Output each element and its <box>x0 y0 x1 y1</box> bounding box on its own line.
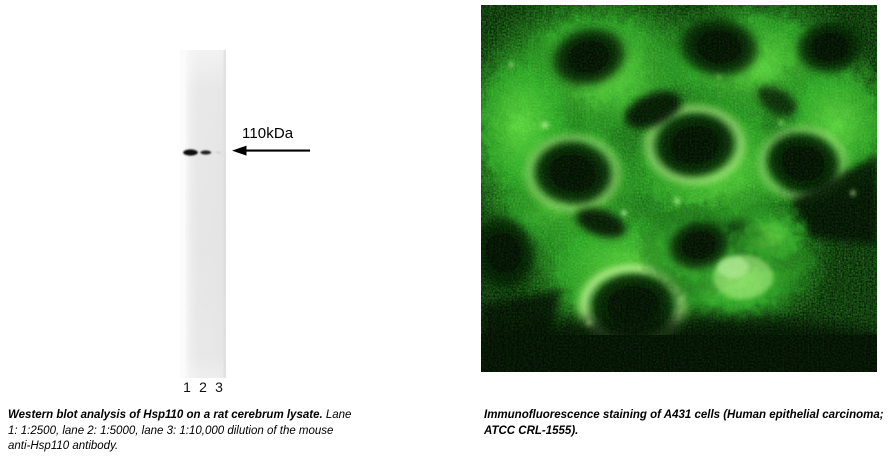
blot-membrane-svg <box>180 50 226 378</box>
western-blot-figure: 110kDa 1 2 3 <box>0 0 450 400</box>
western-blot-panel: 110kDa 1 2 3 <box>0 0 450 400</box>
immunofluorescence-caption: Immunofluorescence staining of A431 cell… <box>484 408 884 439</box>
blot-membrane-strip <box>180 50 226 378</box>
immunofluorescence-micrograph <box>481 5 877 372</box>
western-blot-caption-bold: Western blot analysis of Hsp110 on a rat… <box>8 409 323 421</box>
lane-number-row: 1 2 3 <box>180 379 226 395</box>
micrograph-grain <box>481 5 877 372</box>
immunofluorescence-panel <box>481 5 877 372</box>
immunofluorescence-caption-bold: Immunofluorescence staining of A431 cell… <box>484 409 884 437</box>
molecular-weight-label: 110kDa <box>242 125 293 142</box>
lane-number-3: 3 <box>213 379 225 395</box>
lane-number-1: 1 <box>181 379 193 395</box>
lane-number-2: 2 <box>197 379 209 395</box>
band-lane-2 <box>199 150 212 156</box>
molecular-weight-marker: 110kDa <box>231 126 311 158</box>
marker-arrow-left-icon <box>231 145 311 157</box>
band-lane-1 <box>182 149 199 157</box>
western-blot-caption: Western blot analysis of Hsp110 on a rat… <box>8 408 358 455</box>
band-lane-3 <box>214 151 223 155</box>
membrane-grain <box>180 50 226 378</box>
